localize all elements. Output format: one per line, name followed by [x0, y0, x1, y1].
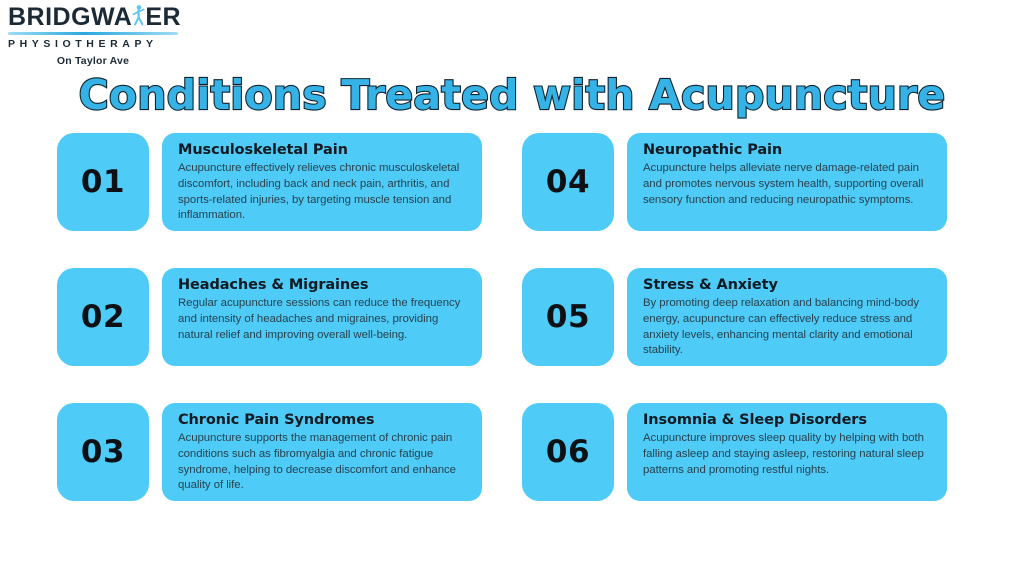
- card-body: Headaches & Migraines Regular acupunctur…: [162, 268, 482, 366]
- card-title: Neuropathic Pain: [643, 141, 933, 159]
- condition-card: 03 Chronic Pain Syndromes Acupuncture su…: [57, 403, 482, 501]
- card-description: By promoting deep relaxation and balanci…: [643, 296, 933, 359]
- condition-card: 02 Headaches & Migraines Regular acupunc…: [57, 268, 482, 366]
- page-title: Conditions Treated with Acupuncture: [0, 74, 1024, 117]
- card-body: Musculoskeletal Pain Acupuncture effecti…: [162, 133, 482, 231]
- running-person-icon: [132, 4, 145, 29]
- condition-card: 05 Stress & Anxiety By promoting deep re…: [522, 268, 947, 366]
- logo-wordmark-post: ER: [145, 3, 181, 31]
- logo-wordmark-pre: BRIDGWA: [8, 3, 132, 31]
- condition-card: 01 Musculoskeletal Pain Acupuncture effe…: [57, 133, 482, 231]
- card-number-badge: 02: [57, 268, 149, 366]
- condition-card: 06 Insomnia & Sleep Disorders Acupunctur…: [522, 403, 947, 501]
- condition-card: 04 Neuropathic Pain Acupuncture helps al…: [522, 133, 947, 231]
- logo-tagline: On Taylor Ave: [8, 55, 178, 67]
- card-number-badge: 06: [522, 403, 614, 501]
- card-number-badge: 01: [57, 133, 149, 231]
- card-body: Neuropathic Pain Acupuncture helps allev…: [627, 133, 947, 231]
- card-description: Acupuncture effectively relieves chronic…: [178, 161, 468, 224]
- logo-wordmark: BRIDGWAER: [8, 4, 183, 30]
- brand-logo: BRIDGWAER PHYSIOTHERAPY On Taylor Ave: [8, 4, 183, 67]
- conditions-grid: 01 Musculoskeletal Pain Acupuncture effe…: [57, 133, 947, 501]
- card-title: Insomnia & Sleep Disorders: [643, 411, 933, 429]
- card-body: Stress & Anxiety By promoting deep relax…: [627, 268, 947, 366]
- card-description: Acupuncture improves sleep quality by he…: [643, 431, 933, 478]
- card-number-badge: 05: [522, 268, 614, 366]
- logo-subtitle: PHYSIOTHERAPY: [8, 38, 183, 50]
- card-number-badge: 04: [522, 133, 614, 231]
- card-title: Chronic Pain Syndromes: [178, 411, 468, 429]
- card-title: Musculoskeletal Pain: [178, 141, 468, 159]
- card-body: Insomnia & Sleep Disorders Acupuncture i…: [627, 403, 947, 501]
- card-description: Acupuncture supports the management of c…: [178, 431, 468, 494]
- logo-divider-rule: [8, 32, 178, 35]
- card-description: Regular acupuncture sessions can reduce …: [178, 296, 468, 343]
- card-title: Stress & Anxiety: [643, 276, 933, 294]
- card-description: Acupuncture helps alleviate nerve damage…: [643, 161, 933, 208]
- card-title: Headaches & Migraines: [178, 276, 468, 294]
- card-number-badge: 03: [57, 403, 149, 501]
- card-body: Chronic Pain Syndromes Acupuncture suppo…: [162, 403, 482, 501]
